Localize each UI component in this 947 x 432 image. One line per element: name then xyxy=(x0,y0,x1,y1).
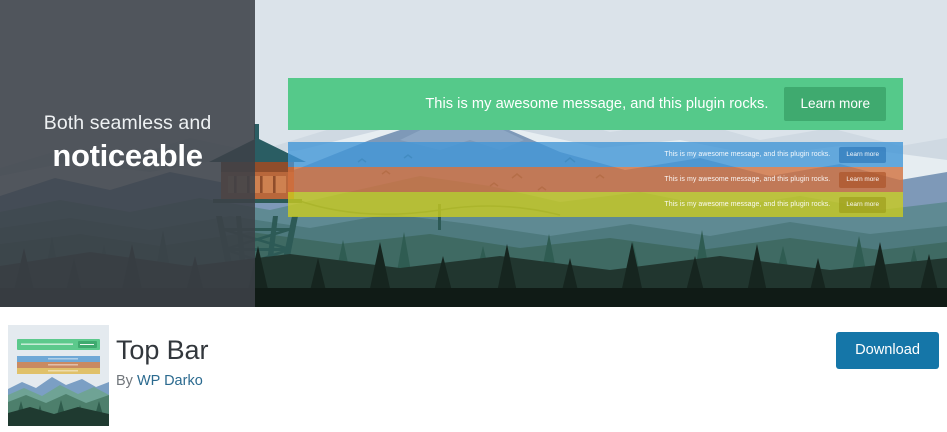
download-button[interactable]: Download xyxy=(836,332,939,369)
demo-banner-primary-cta[interactable]: Learn more xyxy=(784,87,886,121)
demo-banner-primary-message: This is my awesome message, and this plu… xyxy=(425,96,768,112)
demo-banner-olive-message: This is my awesome message, and this plu… xyxy=(664,201,830,208)
plugin-thumbnail xyxy=(8,325,109,426)
demo-banner-blue[interactable]: This is my awesome message, and this plu… xyxy=(288,142,903,167)
demo-banner-orange[interactable]: This is my awesome message, and this plu… xyxy=(288,167,903,192)
hero-headline-line-2: noticeable xyxy=(52,138,202,174)
demo-banner-orange-cta[interactable]: Learn more xyxy=(839,172,886,188)
plugin-author-link[interactable]: WP Darko xyxy=(137,373,203,389)
demo-banner-blue-cta[interactable]: Learn more xyxy=(839,147,886,163)
demo-banner-orange-message: This is my awesome message, and this plu… xyxy=(664,176,830,183)
plugin-meta: Top Bar By WP Darko xyxy=(116,334,208,389)
plugin-banner-hero: This is my awesome message, and this plu… xyxy=(0,0,947,307)
plugin-author-line: By WP Darko xyxy=(116,373,208,389)
demo-banner-blue-message: This is my awesome message, and this plu… xyxy=(664,151,830,158)
hero-headline-line-1: Both seamless and xyxy=(44,111,212,135)
demo-banner-olive[interactable]: This is my awesome message, and this plu… xyxy=(288,192,903,217)
demo-banner-primary[interactable]: This is my awesome message, and this plu… xyxy=(288,78,903,130)
plugin-title[interactable]: Top Bar xyxy=(116,334,208,366)
plugin-info-footer: Top Bar By WP Darko Download xyxy=(0,307,947,432)
demo-banner-olive-cta[interactable]: Learn more xyxy=(839,197,886,213)
hero-headline-group: Both seamless and noticeable xyxy=(0,0,255,307)
author-prefix-label: By xyxy=(116,373,137,389)
